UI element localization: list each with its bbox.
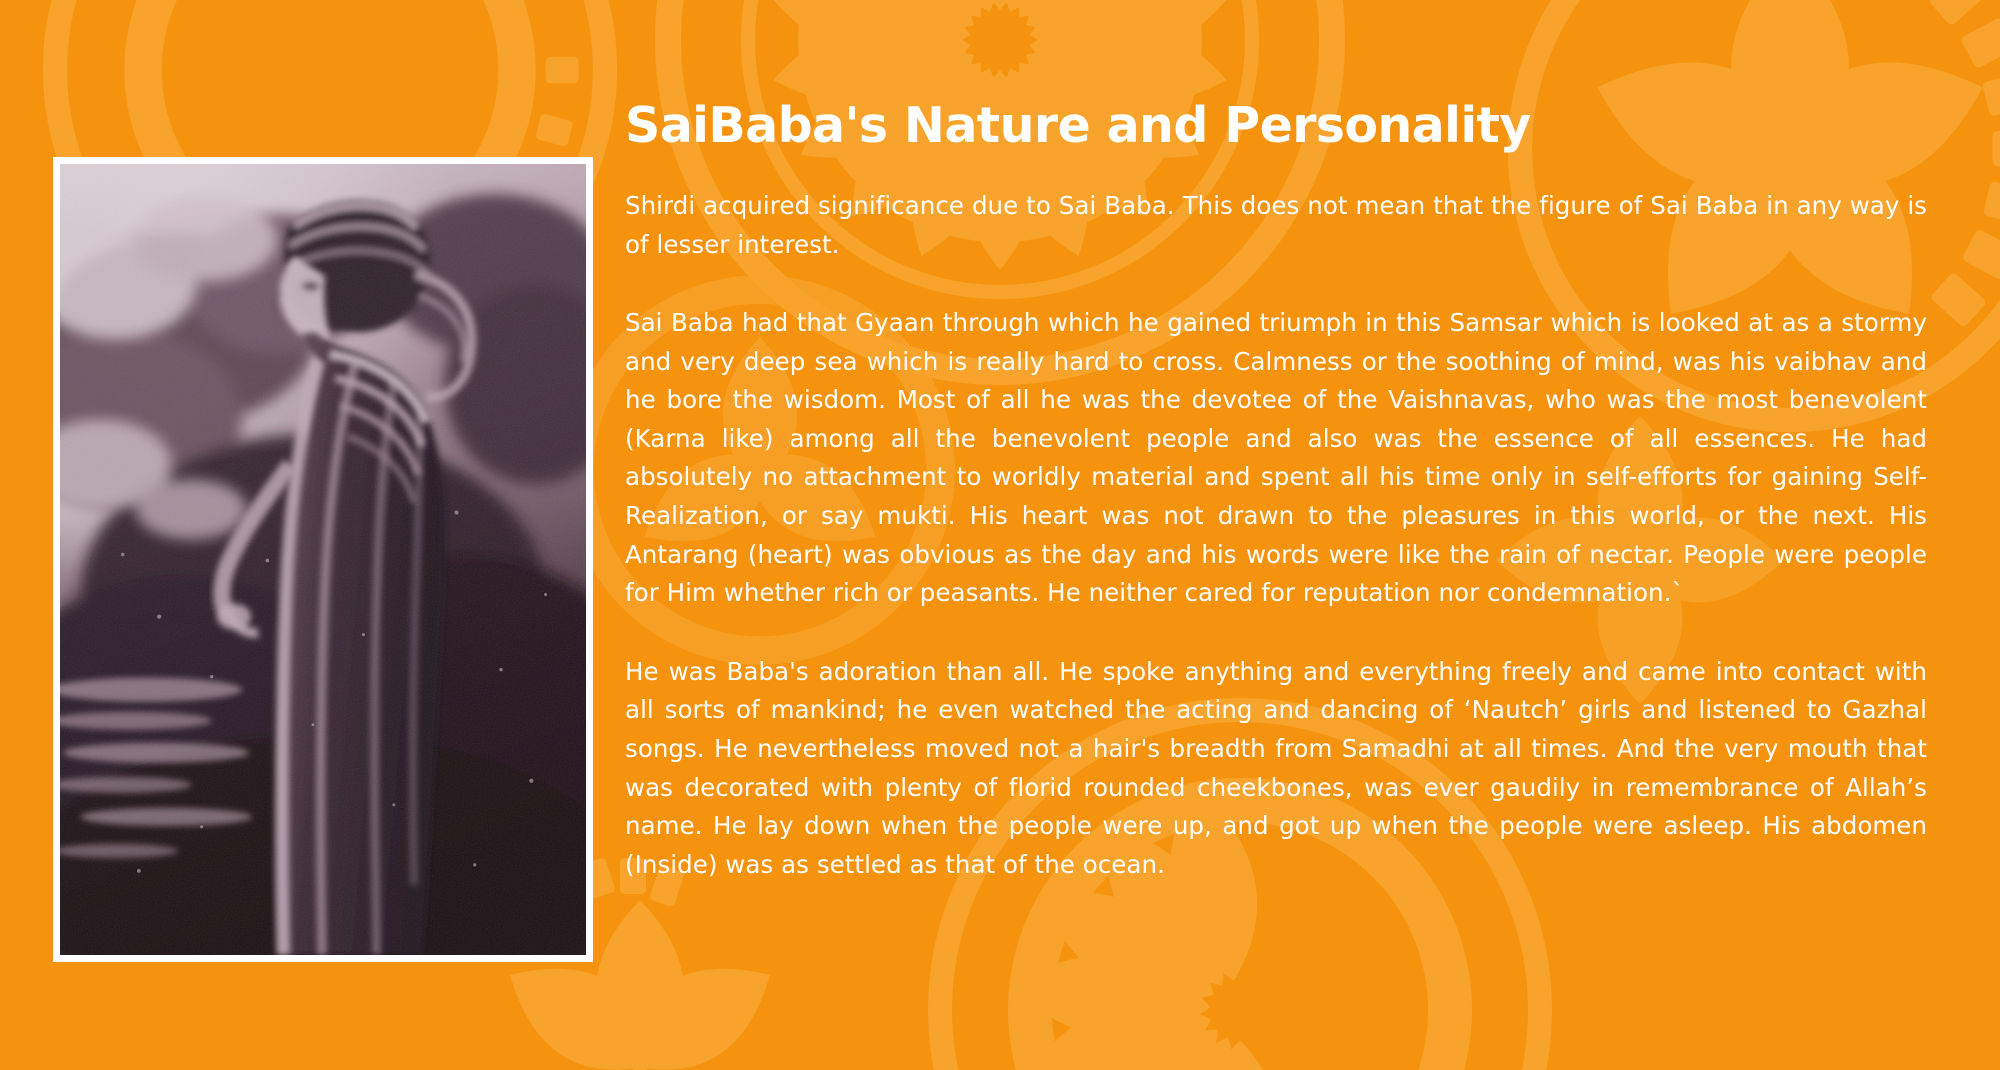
body-paragraph-3: He was Baba's adoration than all. He spo… — [625, 653, 1927, 885]
sai-baba-photo-frame — [53, 157, 593, 962]
sai-baba-photo-image — [60, 164, 586, 955]
text-column: SaiBaba's Nature and Personality Shirdi … — [625, 100, 1927, 884]
body-paragraph-1: Shirdi acquired significance due to Sai … — [625, 187, 1927, 264]
page-title: SaiBaba's Nature and Personality — [625, 100, 1927, 153]
slide-root: SaiBaba's Nature and Personality Shirdi … — [0, 0, 2000, 1070]
sai-baba-photo — [60, 164, 586, 955]
body-paragraph-2: Sai Baba had that Gyaan through which he… — [625, 304, 1927, 613]
